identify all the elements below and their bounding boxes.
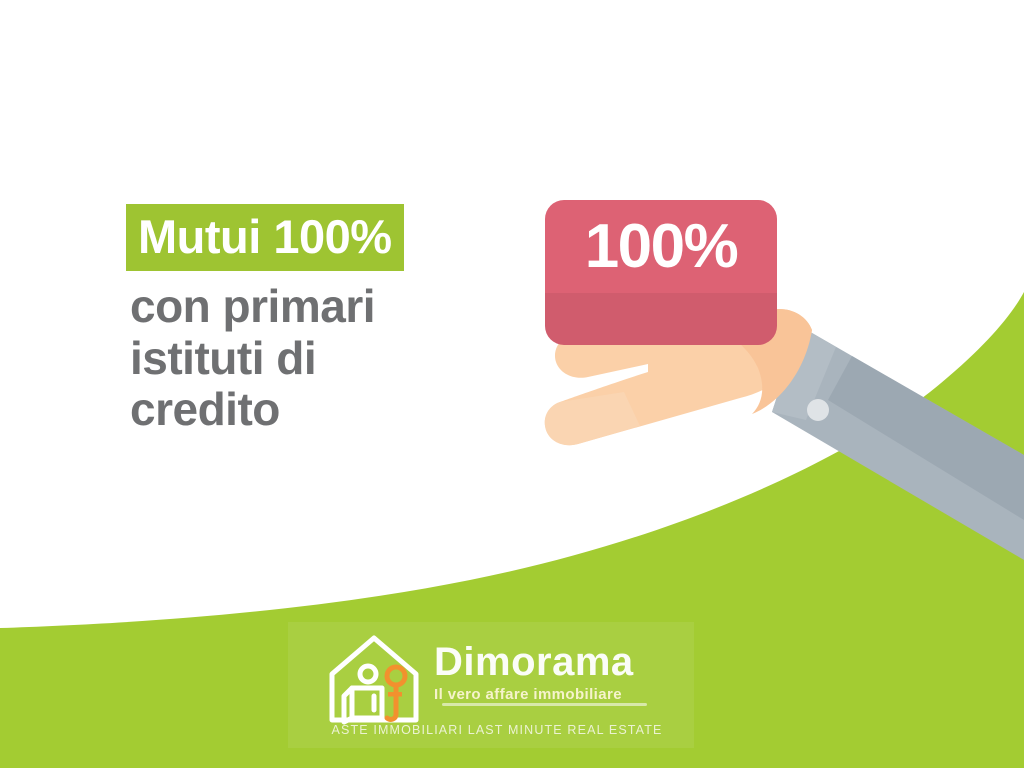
brand-logo: Dimorama Il vero affare immobiliare ASTE… [322, 628, 668, 750]
logo-wordmark: Dimorama Il vero affare immobiliare [434, 642, 666, 702]
headline-highlight-row: Mutui 100% [126, 204, 526, 271]
cuff-button-icon [807, 399, 829, 421]
suit-sleeve-icon [772, 326, 1024, 560]
promo-banner: Mutui 100% con primari istituti di credi… [0, 0, 1024, 768]
logo-divider [442, 703, 647, 706]
logo-strapline: ASTE IMMOBILIARI LAST MINUTE REAL ESTATE [325, 724, 669, 737]
headline-line-1: con primari [126, 281, 526, 333]
headline-block: Mutui 100% con primari istituti di credi… [126, 204, 526, 436]
card-percent-label: 100% [545, 216, 777, 278]
headline-line-3: credito [126, 384, 526, 436]
headline-highlight: Mutui 100% [126, 204, 404, 271]
headline-line-2: istituti di [126, 333, 526, 385]
card-shading [545, 293, 777, 345]
logo-tagline: Il vero affare immobiliare [434, 687, 666, 702]
percent-card: 100% [545, 200, 777, 345]
orange-key-icon [387, 667, 405, 719]
house-outline-icon [322, 630, 426, 726]
logo-name: Dimorama [434, 642, 666, 682]
